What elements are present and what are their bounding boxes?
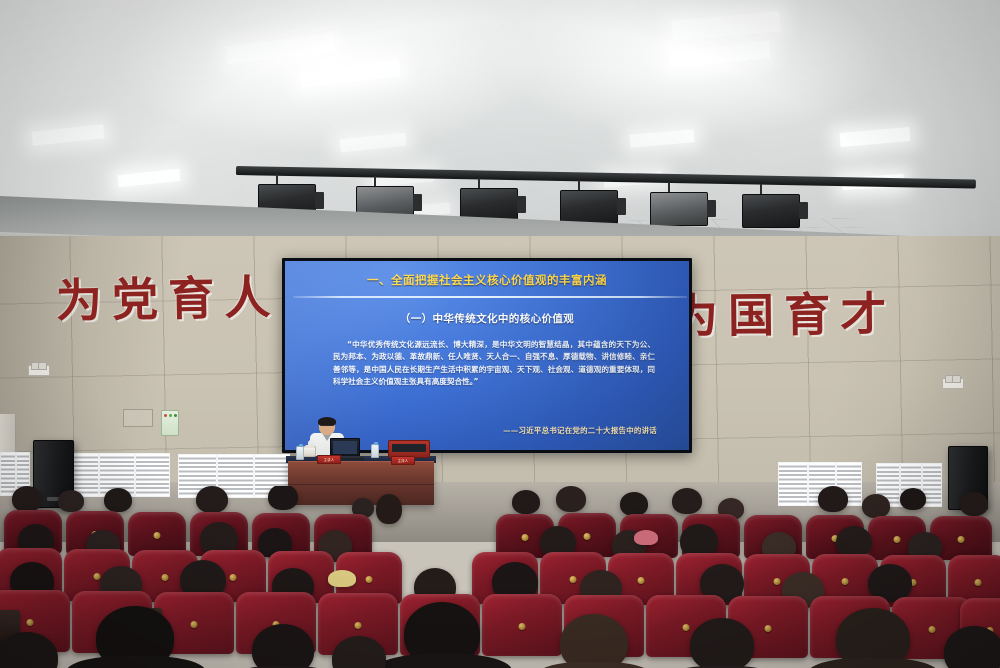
stage-light-fixture — [742, 194, 800, 228]
teacup-icon — [303, 446, 316, 457]
audience-head — [556, 486, 586, 512]
audience-head — [944, 626, 1000, 668]
slide-attribution: ——习近平总书记在党的二十大报告中的讲话 — [503, 425, 657, 436]
audience-shoulders — [534, 662, 654, 668]
audience-shoulders — [806, 658, 940, 668]
auditorium-scene: 为党育人 为国育才 一、全面把握社会主义核心价值观的丰富内涵 （一）中华传统文化… — [0, 0, 1000, 668]
audience-seating-area — [0, 486, 1000, 668]
audience-hat — [328, 570, 356, 587]
name-placard-right: 主持人 — [391, 456, 415, 465]
placard-label: 主讲人 — [318, 457, 340, 463]
audience-head — [58, 490, 84, 512]
audience-head — [12, 486, 42, 512]
audience-shoulders — [374, 654, 512, 668]
audience-head — [672, 488, 702, 514]
audience-head — [900, 488, 926, 510]
audience-head — [512, 490, 540, 514]
audience-head — [690, 618, 754, 668]
audience-head — [196, 486, 228, 513]
stage-light-fixture — [560, 190, 618, 224]
slide-body-text: “中华优秀传统文化源远流长、博大精深，是中华文明的智慧结晶，其中蕴含的天下为公、… — [333, 339, 655, 388]
placard-label: 主持人 — [392, 458, 414, 464]
audience-head — [252, 624, 314, 668]
emergency-light-icon — [942, 378, 964, 389]
wall-slogan-right: 为国育才 — [672, 291, 897, 339]
emergency-light-icon — [28, 365, 50, 376]
wall-slogan-left: 为党育人 — [56, 274, 281, 324]
auditorium-seat[interactable] — [482, 594, 562, 656]
name-placard-left: 主讲人 — [317, 455, 341, 464]
audience-head — [268, 486, 298, 510]
audience-head — [960, 492, 988, 516]
audience-head — [862, 494, 890, 518]
audience-head — [818, 486, 848, 512]
audience-head — [560, 614, 628, 668]
slide-divider — [293, 296, 687, 298]
slide-title: 一、全面把握社会主义核心价值观的丰富内涵 — [285, 272, 689, 288]
glasses-icon — [320, 425, 334, 428]
audience-shoulders — [66, 656, 206, 668]
slide-subtitle: （一）中华传统文化中的核心价值观 — [285, 311, 689, 326]
audience-head — [376, 494, 402, 524]
audience-head — [620, 492, 648, 516]
audience-hat — [634, 530, 658, 545]
stage-light-fixture — [650, 192, 708, 226]
audience-head — [104, 488, 132, 512]
water-bottle-icon — [371, 444, 379, 458]
wall-plate — [123, 409, 153, 427]
water-bottle-icon — [296, 446, 304, 460]
wall-sign-icon — [161, 410, 179, 436]
slide-surface: 一、全面把握社会主义核心价值观的丰富内涵 （一）中华传统文化中的核心价值观 “中… — [285, 261, 689, 450]
